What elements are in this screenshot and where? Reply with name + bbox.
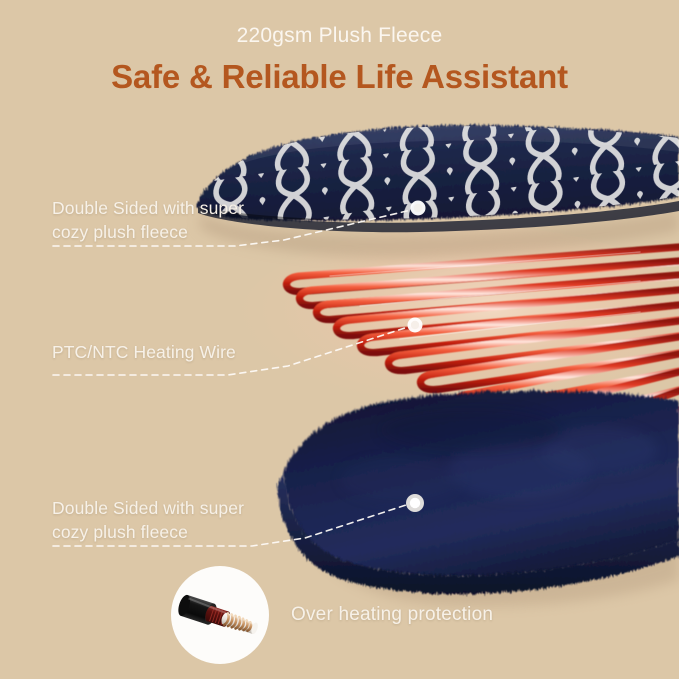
overheating-protection-feature: Over heating protection [171, 565, 591, 665]
page-title: Safe & Reliable Life Assistant [0, 49, 679, 97]
callout-heating-wire-label: PTC/NTC Heating Wire [52, 340, 332, 364]
callout-top-fleece-label: Double Sided with super cozy plush fleec… [52, 196, 312, 244]
overheating-protection-label: Over heating protection [291, 604, 493, 626]
heating-cable-cutaway-icon [171, 566, 269, 664]
header: 220gsm Plush Fleece Safe & Reliable Life… [0, 0, 679, 98]
callout-bottom-fleece-label: Double Sided with super cozy plush fleec… [52, 496, 312, 544]
callout-bottom-fleece: Double Sided with super cozy plush fleec… [52, 496, 312, 544]
callout-heating-wire: PTC/NTC Heating Wire [52, 340, 332, 364]
callout-top-fleece: Double Sided with super cozy plush fleec… [52, 196, 312, 244]
product-feature-graphic: 220gsm Plush Fleece Safe & Reliable Life… [0, 0, 679, 679]
header-subtitle: 220gsm Plush Fleece [0, 0, 679, 49]
